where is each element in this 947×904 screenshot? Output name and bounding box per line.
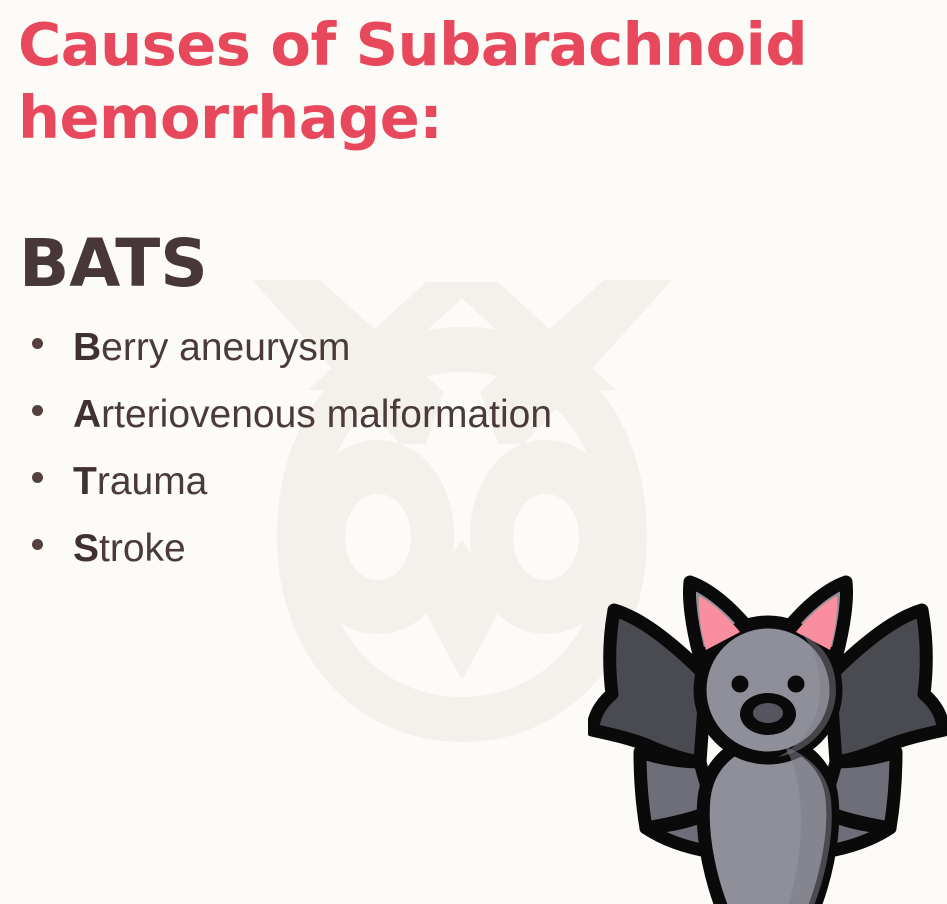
list-item: Trauma	[32, 459, 552, 526]
list-item-rest: erry aneurysm	[101, 326, 350, 369]
list-item-lead-letter: T	[73, 460, 97, 503]
page-title: Causes of Subarachnoid hemorrhage:	[18, 8, 918, 154]
list-item-lead-letter: A	[73, 393, 101, 436]
list-item-label: Trauma	[73, 459, 207, 505]
bullet-dot-icon	[32, 405, 43, 416]
slide-canvas: Causes of Subarachnoid hemorrhage: BATS …	[0, 0, 947, 904]
mnemonic-bullet-list: Berry aneurysm Arteriovenous malformatio…	[32, 325, 552, 593]
bat-illustration	[588, 566, 947, 904]
bat-left-eye-icon	[732, 676, 749, 693]
list-item: Berry aneurysm	[32, 325, 552, 392]
bat-mouth-inner	[753, 703, 783, 723]
list-item-rest: rteriovenous malformation	[101, 393, 552, 436]
list-item-rest: rauma	[97, 460, 208, 503]
list-item-rest: troke	[99, 527, 186, 570]
list-item-label: Berry aneurysm	[73, 325, 350, 371]
bullet-dot-icon	[32, 338, 43, 349]
list-item: Stroke	[32, 526, 552, 593]
list-item-lead-letter: S	[73, 527, 99, 570]
list-item-label: Stroke	[73, 526, 186, 572]
list-item-lead-letter: B	[73, 326, 101, 369]
list-item-label: Arteriovenous malformation	[73, 392, 552, 438]
list-item: Arteriovenous malformation	[32, 392, 552, 459]
bullet-dot-icon	[32, 539, 43, 550]
bat-right-eye-icon	[788, 676, 805, 693]
mnemonic-heading: BATS	[19, 228, 208, 300]
bullet-dot-icon	[32, 472, 43, 483]
